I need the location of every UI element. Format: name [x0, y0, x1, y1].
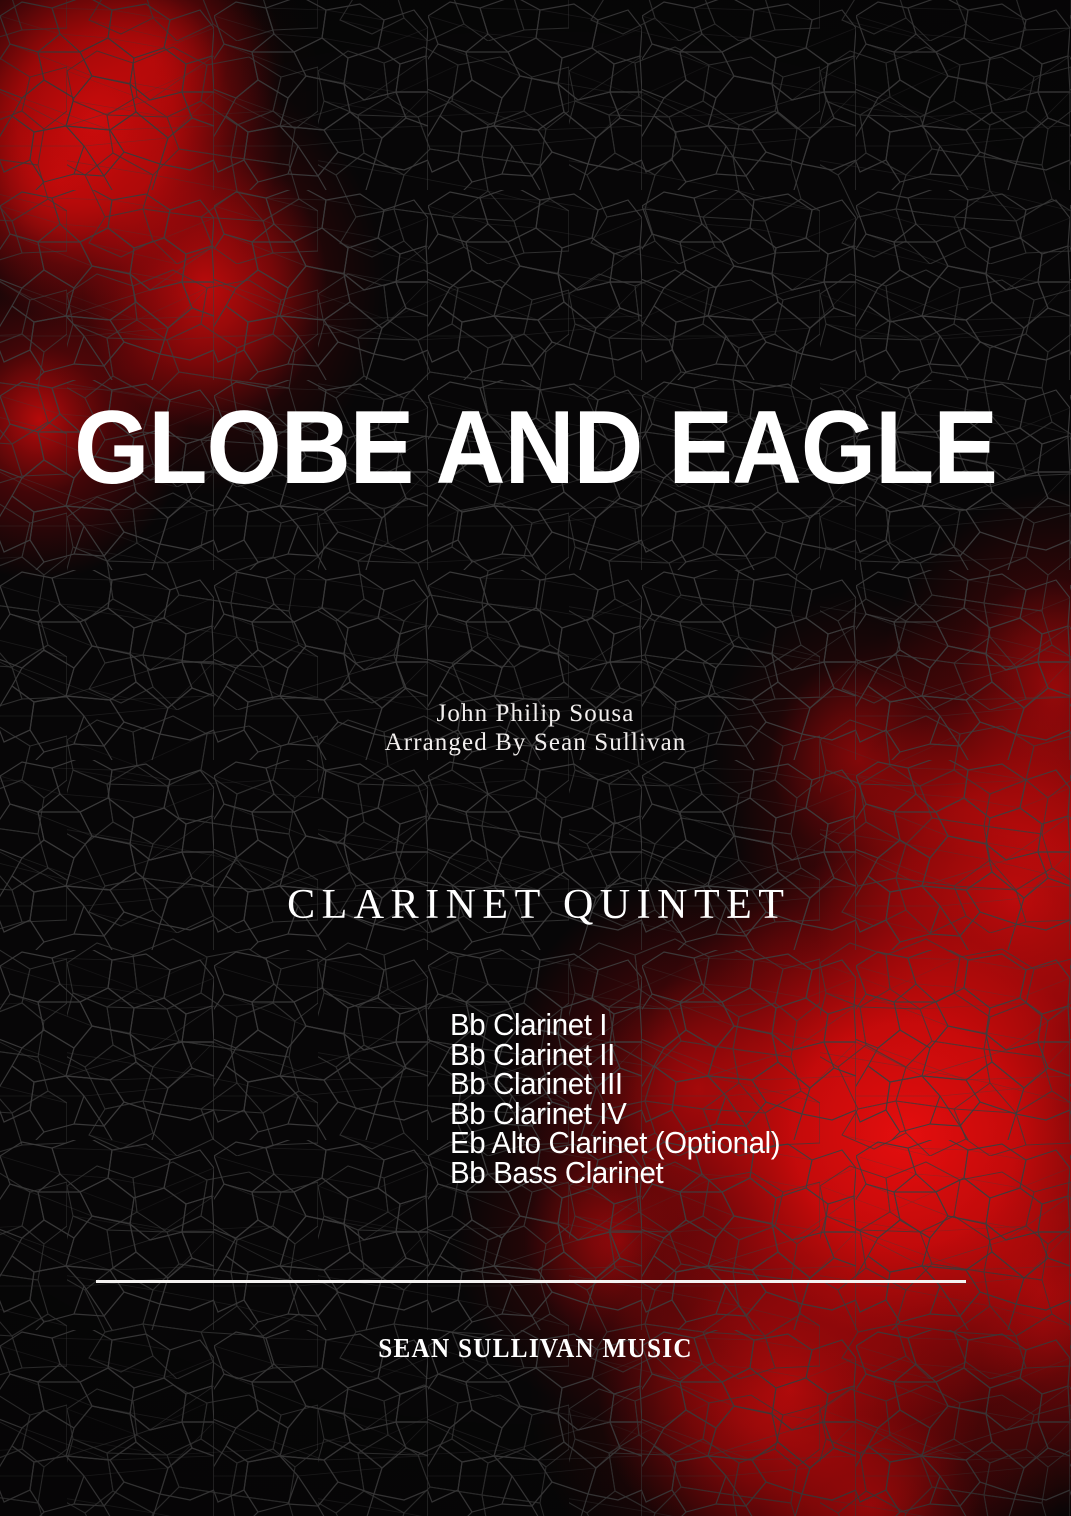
composer-name: John Philip Sousa — [0, 699, 1071, 728]
list-item: Bb Clarinet III — [450, 1069, 780, 1099]
ensemble-subtitle: CLARINET QUINTET — [0, 884, 1071, 926]
list-item: Bb Clarinet I — [450, 1010, 780, 1040]
list-item: Bb Clarinet II — [450, 1040, 780, 1070]
publisher-name: SEAN SULLIVAN MUSIC — [37, 1335, 1033, 1362]
instrumentation-list: Bb Clarinet I Bb Clarinet II Bb Clarinet… — [450, 1010, 780, 1187]
cover-content: GLOBE AND EAGLE John Philip Sousa Arrang… — [0, 0, 1071, 1516]
cover-page: GLOBE AND EAGLE John Philip Sousa Arrang… — [0, 0, 1071, 1516]
list-item: Bb Bass Clarinet — [450, 1158, 780, 1188]
list-item: Eb Alto Clarinet (Optional) — [450, 1128, 780, 1158]
credits-block: John Philip Sousa Arranged By Sean Sulli… — [0, 699, 1071, 757]
horizontal-divider — [96, 1280, 966, 1283]
page-title: GLOBE AND EAGLE — [37, 396, 1033, 500]
list-item: Bb Clarinet IV — [450, 1099, 780, 1129]
arranger-name: Arranged By Sean Sullivan — [0, 728, 1071, 757]
